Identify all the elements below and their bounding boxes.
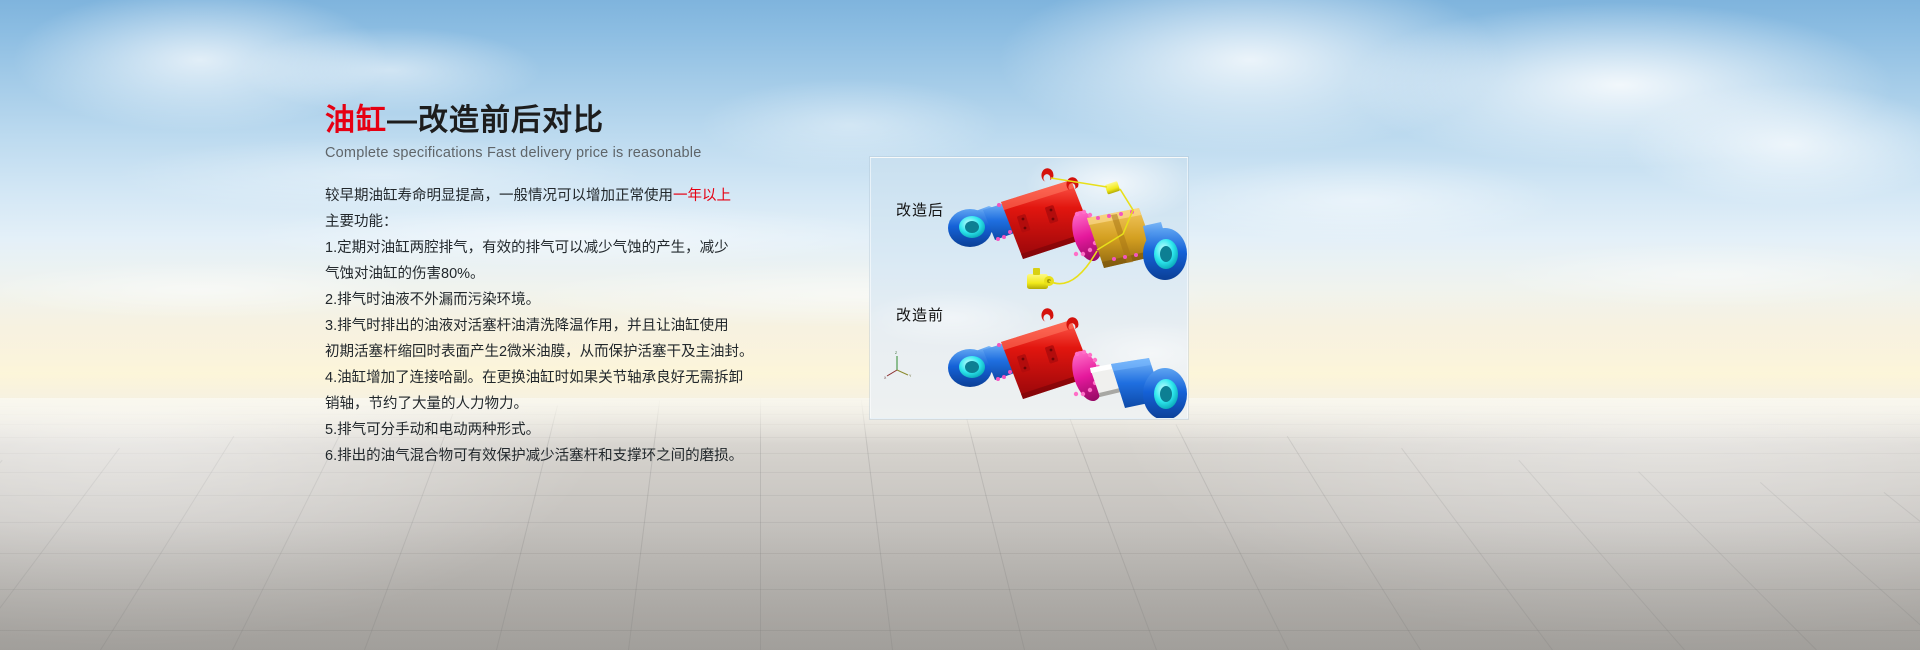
cloud-shape	[1240, 0, 1920, 200]
cloud-shape	[1560, 60, 1920, 230]
body-copy: 较早期油缸寿命明显提高，一般情况可以增加正常使用一年以上 主要功能： 1.定期对…	[325, 183, 885, 469]
axis-triad-icon: Z X Y	[884, 351, 912, 380]
feature-line: 销轴，节约了大量的人力物力。	[325, 391, 885, 417]
svg-text:X: X	[884, 376, 887, 380]
cloud-shape	[1400, 230, 1920, 320]
svg-text:Y: Y	[909, 374, 912, 378]
feature-line: 5.排气可分手动和电动两种形式。	[325, 417, 885, 443]
feature-line: 1.定期对油缸两腔排气，有效的排气可以减少气蚀的产生，减少	[325, 235, 885, 261]
feature-line: 2.排气时油液不外漏而污染环境。	[325, 287, 885, 313]
intro-highlight: 一年以上	[673, 188, 731, 204]
hydraulic-cylinder-diagram: Z X Y	[871, 158, 1188, 419]
functions-heading: 主要功能：	[325, 209, 885, 235]
pavement-background	[0, 398, 1920, 650]
label-after-modification: 改造后	[896, 199, 944, 220]
feature-line: 3.排气时排出的油液对活塞杆油清洗降温作用，并且让油缸使用	[325, 313, 885, 339]
ground-shadow	[0, 520, 1920, 650]
page-subtitle: Complete specifications Fast delivery pr…	[325, 145, 885, 161]
feature-line: 6.排出的油气混合物可有效保护减少活塞杆和支撑环之间的磨损。	[325, 443, 885, 469]
intro-text: 较早期油缸寿命明显提高，一般情况可以增加正常使用	[325, 188, 673, 204]
svg-text:Z: Z	[895, 351, 898, 355]
page-title-highlight: 油缸	[325, 104, 387, 137]
page-title-rest: —改造前后对比	[387, 104, 604, 137]
intro-line: 较早期油缸寿命明显提高，一般情况可以增加正常使用一年以上	[325, 183, 885, 209]
feature-line: 初期活塞杆缩回时表面产生2微米油膜，从而保护活塞干及主油封。	[325, 339, 885, 365]
label-before-modification: 改造前	[896, 304, 944, 325]
hero-banner: 油缸—改造前后对比 Complete specifications Fast d…	[0, 0, 1920, 650]
hero-text-block: 油缸—改造前后对比 Complete specifications Fast d…	[325, 104, 885, 469]
feature-line: 气蚀对油缸的伤害80%。	[325, 261, 885, 287]
product-image-panel: Z X Y 改造后 改造前	[870, 157, 1188, 419]
feature-line: 4.油缸增加了连接哈副。在更换油缸时如果关节轴承良好无需拆卸	[325, 365, 885, 391]
page-title: 油缸—改造前后对比	[325, 104, 885, 139]
